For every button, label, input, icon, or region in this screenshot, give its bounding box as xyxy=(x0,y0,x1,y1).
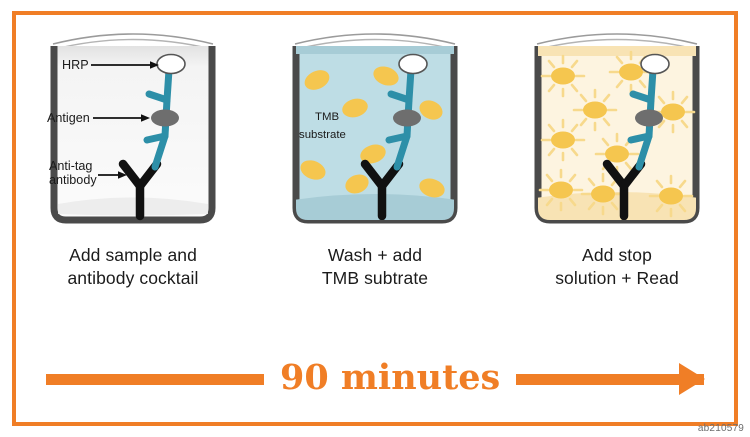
panel-3-caption-line1: Add stop xyxy=(555,244,679,267)
panels-row: HRP Antigen Anti-tag antibody Add sample… xyxy=(12,18,738,308)
label-hrp: HRP xyxy=(62,58,89,72)
panel-add-sample: HRP Antigen Anti-tag antibody Add sample… xyxy=(19,18,247,290)
antigen-icon xyxy=(393,110,421,127)
watermark-code: ab210579 xyxy=(698,423,744,434)
liquid-bottom xyxy=(293,194,457,224)
panel-2-caption-line2: TMB subtrate xyxy=(322,267,428,290)
figure-root: HRP Antigen Anti-tag antibody Add sample… xyxy=(0,0,750,437)
label-tmb-line1: TMB xyxy=(315,111,339,123)
well-3-diagram xyxy=(527,18,707,230)
timeline-duration-label: 90 minutes xyxy=(280,360,500,395)
antigen-icon xyxy=(151,110,179,127)
panel-3-caption-line2: solution + Read xyxy=(555,267,679,290)
hrp-icon xyxy=(641,55,669,74)
label-antigen: Antigen xyxy=(47,111,90,125)
timeline-right-group xyxy=(516,364,704,394)
well-2-wrap: TMB substrate xyxy=(285,18,465,230)
well-3-wrap xyxy=(527,18,707,230)
timeline-arrow: 90 minutes xyxy=(12,352,738,406)
timeline-bar-right xyxy=(516,374,704,385)
panel-1-caption: Add sample and antibody cocktail xyxy=(67,244,198,290)
panel-2-caption: Wash + add TMB subtrate xyxy=(322,244,428,290)
panel-1-caption-line1: Add sample and xyxy=(67,244,198,267)
hrp-icon xyxy=(157,55,185,74)
label-anti-tag-antibody-line2: antibody xyxy=(49,173,97,187)
label-tmb-line2: substrate xyxy=(299,129,346,141)
panel-3-caption: Add stop solution + Read xyxy=(555,244,679,290)
liquid-surface xyxy=(535,44,699,56)
antigen-icon xyxy=(635,110,663,127)
panel-2-caption-line1: Wash + add xyxy=(322,244,428,267)
panel-wash-add-tmb: TMB substrate Wash + add TMB subtrate xyxy=(261,18,489,290)
label-anti-tag-antibody-line1: Anti-tag xyxy=(49,159,92,173)
well-1-wrap: HRP Antigen Anti-tag antibody xyxy=(43,18,223,230)
panel-1-caption-line2: antibody cocktail xyxy=(67,267,198,290)
hrp-icon xyxy=(399,55,427,74)
arrow-head-icon xyxy=(679,363,705,395)
panel-add-stop-solution: Add stop solution + Read xyxy=(503,18,731,290)
well-1-diagram: HRP Antigen Anti-tag antibody xyxy=(43,18,223,230)
timeline-bar-left xyxy=(46,374,264,385)
well-2-diagram: TMB substrate xyxy=(285,18,465,230)
liquid-surface xyxy=(293,44,457,54)
well-body xyxy=(54,46,212,220)
